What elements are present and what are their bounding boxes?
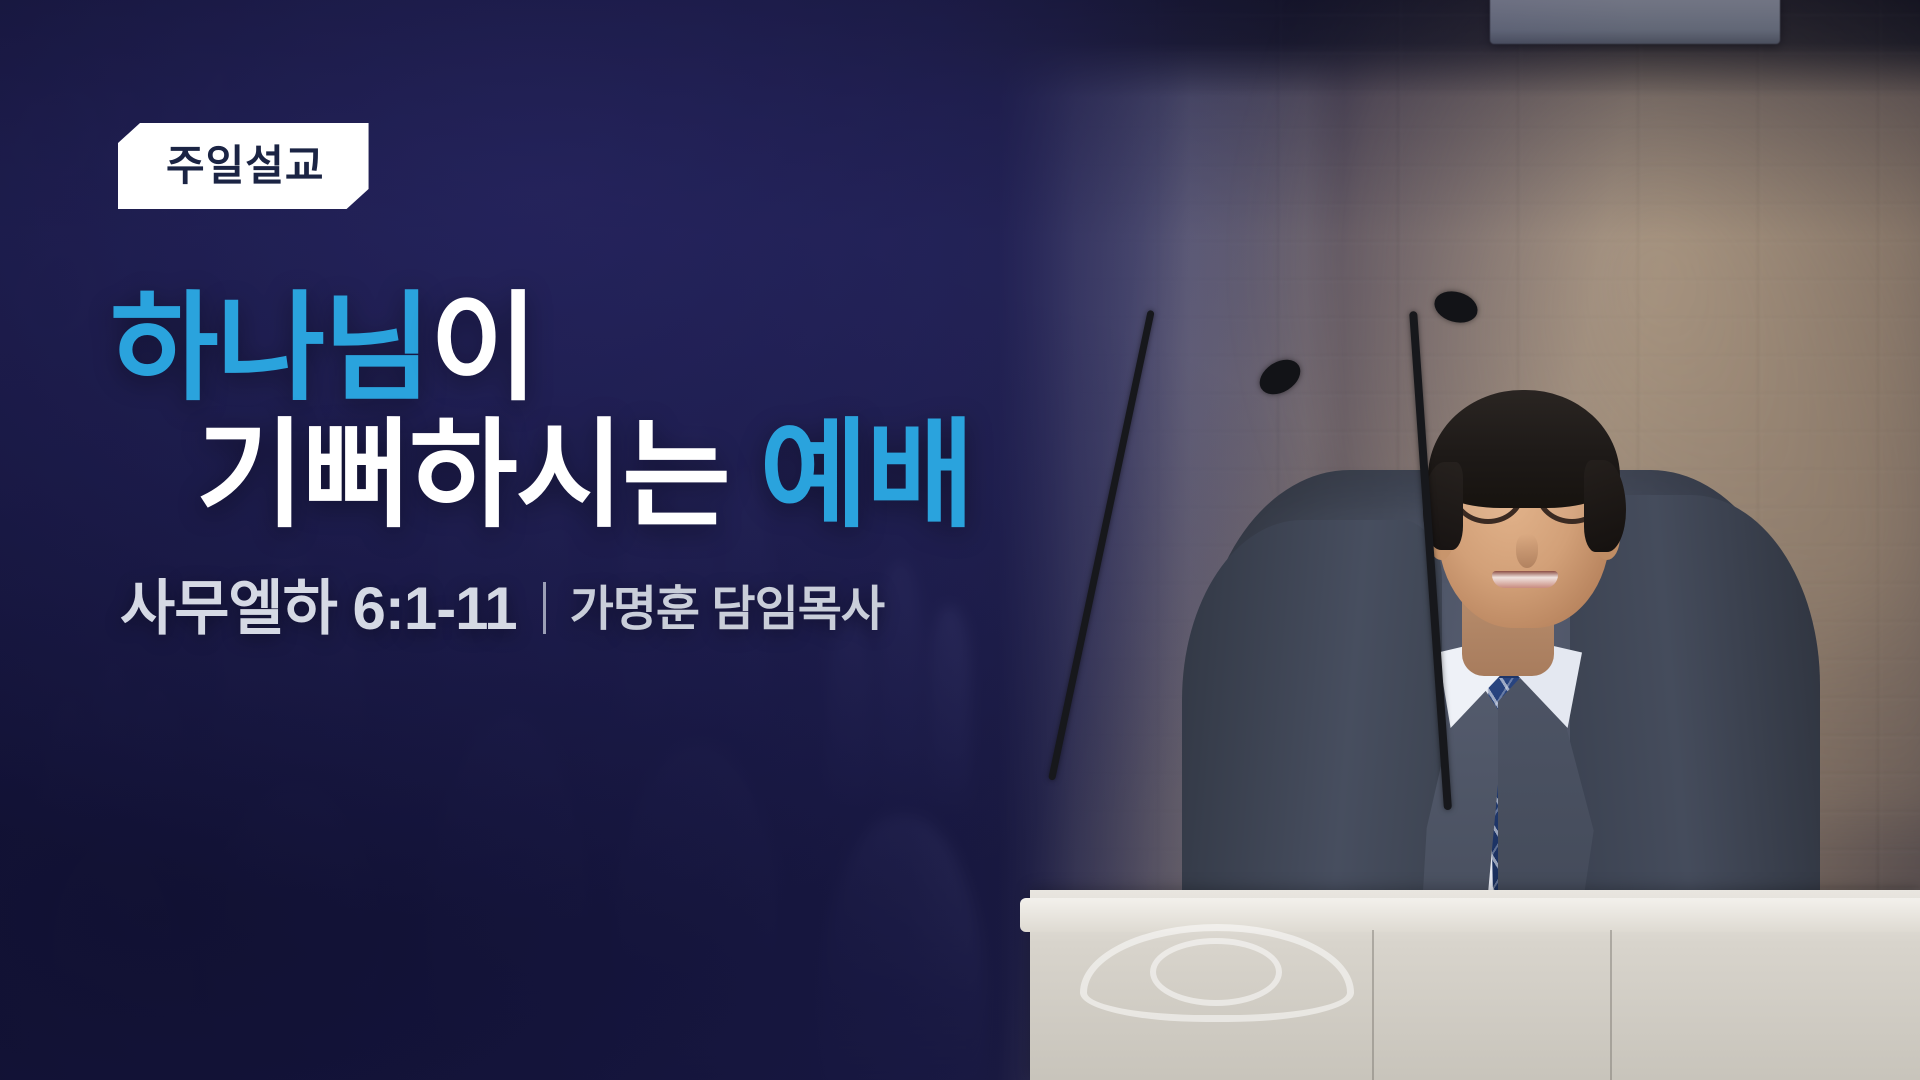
- category-badge: 주일설교: [118, 123, 369, 209]
- podium-seam: [1610, 930, 1612, 1080]
- meta-divider: [543, 582, 546, 634]
- speaker-name: 가명훈 담임목사: [570, 569, 884, 639]
- page-title: 하나님이 기뻐하시는 예배: [110, 286, 973, 541]
- headline-rest-2: 기뻐하시는: [196, 410, 760, 542]
- sermon-title-slide: out of: [0, 0, 1920, 1080]
- text-content: 주일설교 하나님이 기뻐하시는 예배 사무엘하 6:1-11 가명훈 담임목사: [0, 0, 1100, 1080]
- podium-ornament-inner: [1150, 938, 1282, 1006]
- podium-seam: [1372, 930, 1374, 1080]
- podium-lip: [1020, 898, 1920, 932]
- headline-accent-2: 예배: [760, 410, 973, 542]
- headline-accent-1: 하나님: [110, 283, 430, 415]
- scripture-reference: 사무엘하 6:1-11: [120, 560, 517, 647]
- sermon-meta: 사무엘하 6:1-11 가명훈 담임목사: [120, 560, 884, 647]
- headline-rest-1: 이: [430, 283, 537, 415]
- category-badge-label: 주일설교: [166, 145, 325, 187]
